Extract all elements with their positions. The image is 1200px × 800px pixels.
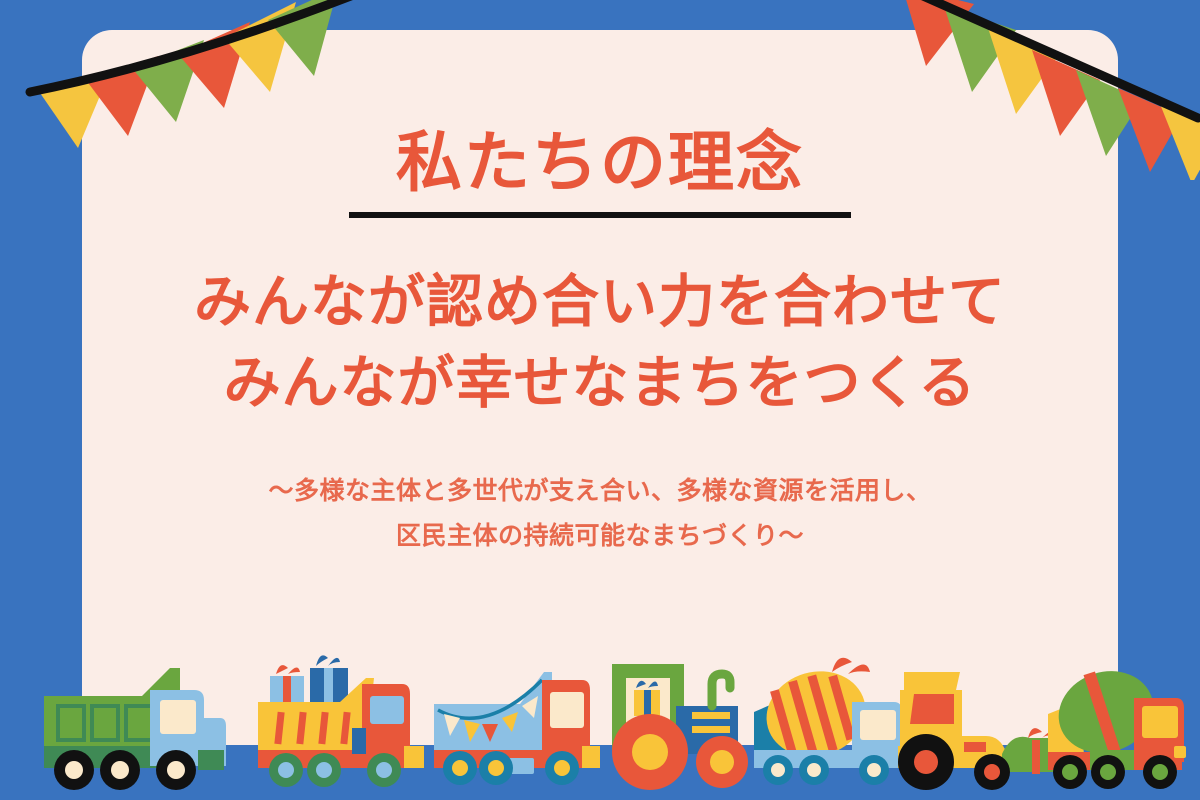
grill-bar xyxy=(692,712,730,719)
gift-ribbon-band xyxy=(324,668,333,702)
wheel-hub xyxy=(452,760,468,776)
wheel-hub xyxy=(554,760,570,776)
front-wheel-hub xyxy=(984,764,1000,780)
bunting-flag xyxy=(1160,104,1200,180)
cab-window xyxy=(370,696,404,724)
gift-ribbon xyxy=(316,655,340,666)
vehicle-green-dump-truck xyxy=(30,650,230,800)
loader-light xyxy=(964,742,986,752)
wheel-hub xyxy=(867,763,881,777)
cab-window xyxy=(1142,706,1178,738)
vehicle-row xyxy=(0,640,1200,800)
headline-line-2: みんなが幸せなまちをつくる xyxy=(82,343,1118,424)
page-title-block: 私たちの理念 xyxy=(82,130,1118,218)
wheel-group xyxy=(1053,755,1177,789)
gift-boxes xyxy=(270,655,348,704)
gift-ribbon xyxy=(276,665,300,674)
rear-wheel-hub xyxy=(632,734,668,770)
subtitle: 〜多様な主体と多世代が支え合い、多様な資源を活用し、 区民主体の持続可能なまちづ… xyxy=(82,468,1118,559)
wheel-hub xyxy=(65,761,83,779)
wheel-hub xyxy=(167,761,185,779)
wheel-group xyxy=(269,753,401,787)
wheel-hub xyxy=(1152,764,1168,780)
headline-line-1: みんなが認め合い力を合わせて xyxy=(82,262,1118,343)
cab-window xyxy=(160,700,196,734)
rear-bumper xyxy=(404,746,424,768)
vehicle-blue-party-truck xyxy=(424,650,614,800)
vehicle-orange-mixer-truck xyxy=(1034,650,1200,800)
wheel-hub xyxy=(111,761,129,779)
wheel-group xyxy=(54,750,196,790)
poster-canvas: 私たちの理念 みんなが認め合い力を合わせて みんなが幸せなまちをつくる 〜多様な… xyxy=(0,0,1200,800)
page-title: 私たちの理念 xyxy=(396,130,804,196)
text-content: 私たちの理念 みんなが認め合い力を合わせて みんなが幸せなまちをつくる 〜多様な… xyxy=(82,30,1118,559)
gift-ribbon-band xyxy=(283,676,291,704)
rear-bumper xyxy=(198,750,224,770)
wheel-hub xyxy=(771,763,785,777)
subtitle-line-1: 〜多様な主体と多世代が支え合い、多様な資源を活用し、 xyxy=(82,468,1118,514)
bunting-flag xyxy=(1118,88,1182,172)
cab-step xyxy=(352,728,366,754)
cab-window xyxy=(550,692,584,728)
wheel-hub xyxy=(488,760,504,776)
subtitle-line-2: 区民主体の持続可能なまちづくり〜 xyxy=(82,513,1118,559)
vehicle-yellow-gift-truck xyxy=(244,650,434,800)
wheel-hub xyxy=(1100,764,1116,780)
wheel-hub xyxy=(807,763,821,777)
rear-wheel-hub xyxy=(914,750,938,774)
wheel-hub xyxy=(376,762,392,778)
cab-window xyxy=(910,694,954,724)
title-underline xyxy=(349,212,851,218)
grill-bar xyxy=(692,726,730,733)
headlight xyxy=(1174,746,1186,758)
exhaust-pipe xyxy=(712,674,730,706)
wheel-hub xyxy=(1062,764,1078,780)
headline: みんなが認め合い力を合わせて みんなが幸せなまちをつくる xyxy=(82,262,1118,424)
wheel-hub xyxy=(316,762,332,778)
front-wheel-hub xyxy=(710,750,734,774)
gift-ribbon-band xyxy=(644,690,651,716)
mixer-ribbon-bow xyxy=(832,658,870,674)
wheel-hub xyxy=(278,762,294,778)
